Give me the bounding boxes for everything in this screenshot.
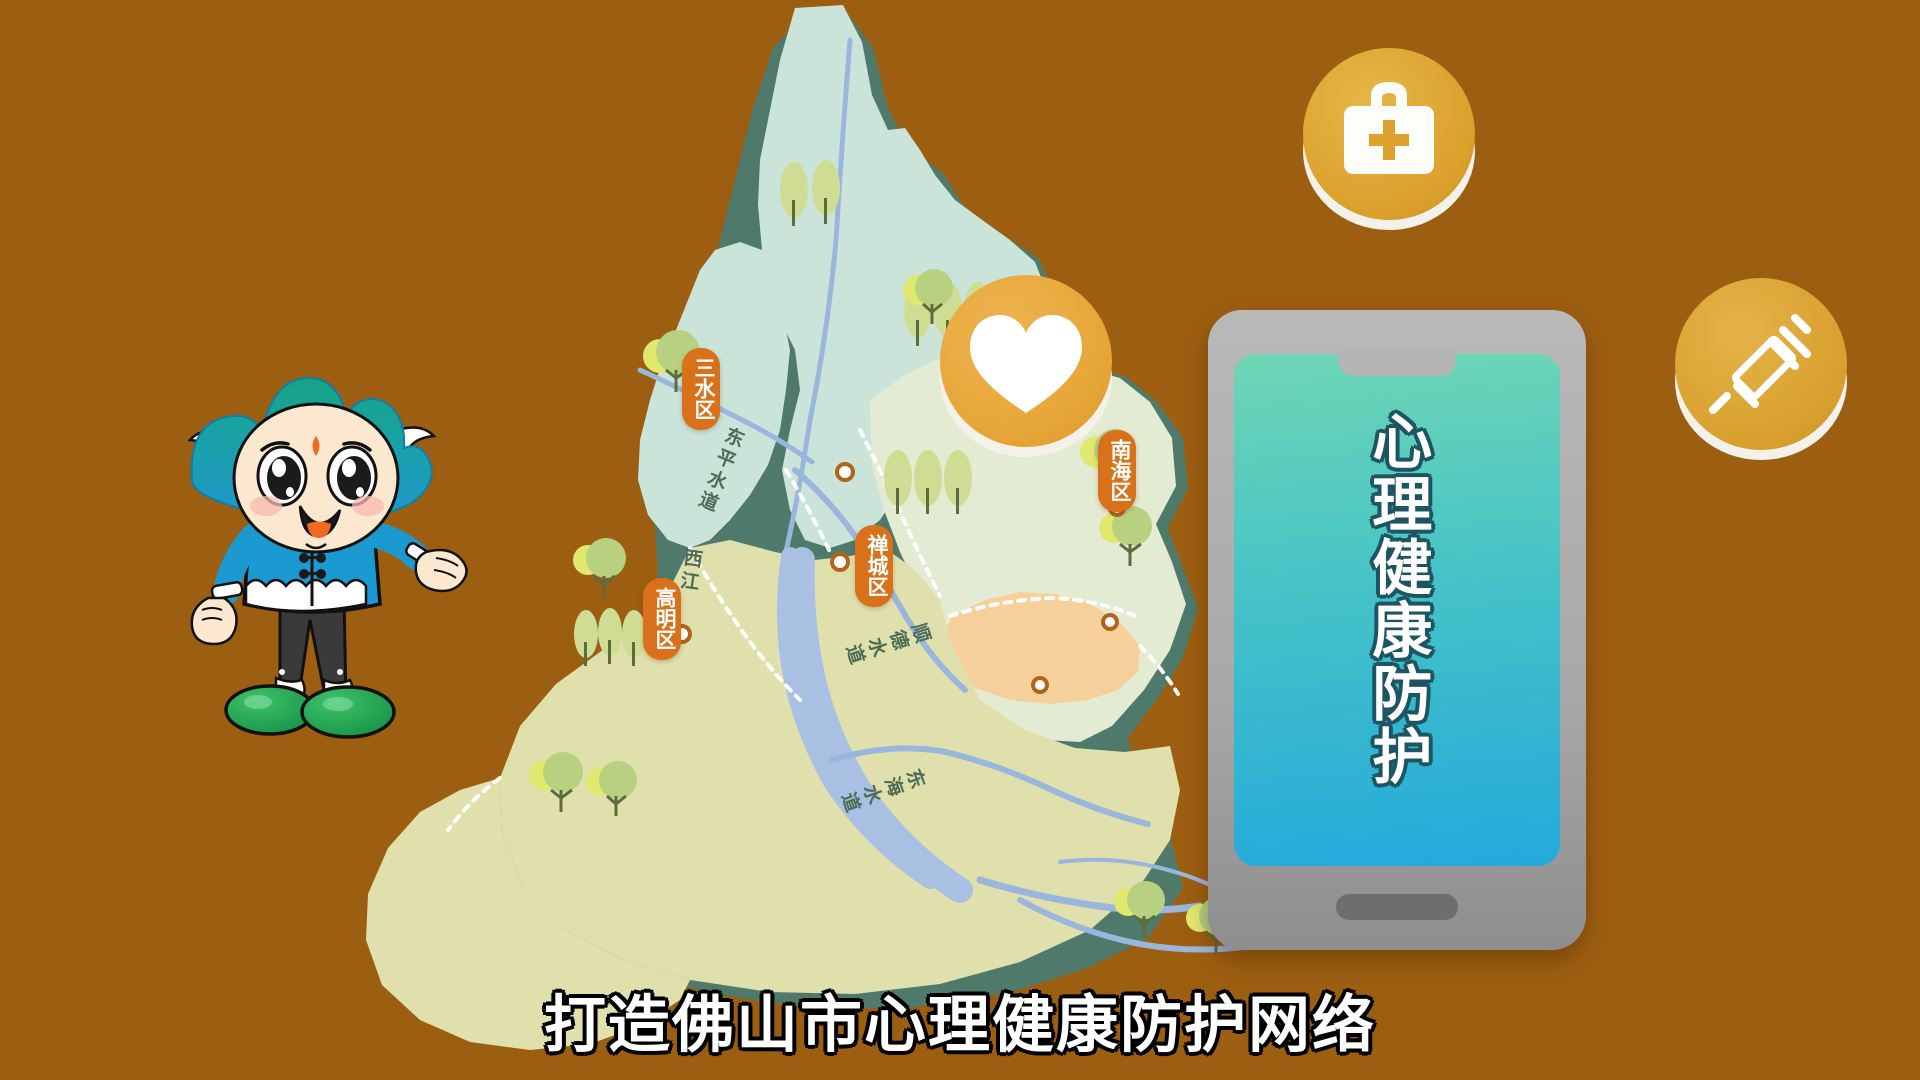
heart-icon: [940, 275, 1112, 447]
phone-home-button[interactable]: [1336, 894, 1458, 920]
district-label-chancheng[interactable]: 禅城区: [855, 525, 893, 607]
district-label-sanshui[interactable]: 三水区: [682, 348, 720, 430]
mascot-shoes: [226, 686, 394, 737]
medical-bag-icon: [1303, 48, 1475, 220]
phone-notch: [1338, 350, 1456, 376]
phone-device[interactable]: 心理健康防护: [1208, 310, 1586, 950]
mascot-legs: [276, 600, 353, 700]
mascot-character: [130, 300, 510, 800]
badge-heart[interactable]: [940, 275, 1112, 447]
phone-screen[interactable]: 心理健康防护: [1234, 354, 1560, 866]
subtitle-caption: 打造佛山市心理健康防护网络: [0, 974, 1920, 1064]
mascot-face: [234, 404, 398, 552]
phone-title-text: 心理健康防护: [1365, 410, 1429, 788]
badge-medical-bag[interactable]: [1303, 48, 1475, 220]
syringe-icon: [1675, 278, 1847, 450]
scene-root: 三水区 南海区 禅城区 高明区 东平水道 顺德水道 东海水道 西江: [0, 0, 1920, 1080]
badge-syringe[interactable]: [1675, 278, 1847, 450]
